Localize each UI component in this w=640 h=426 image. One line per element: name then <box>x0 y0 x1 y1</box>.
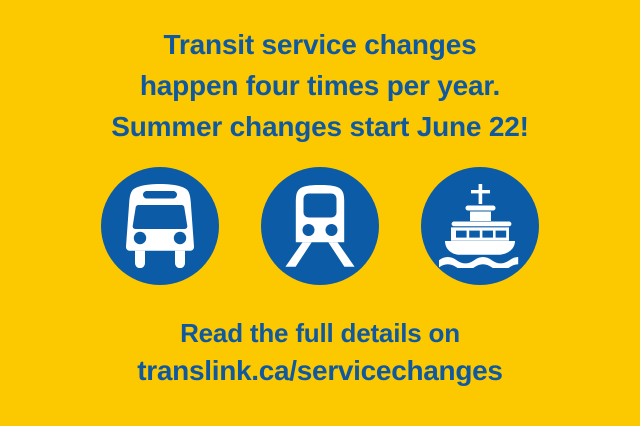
footer-cta-text: Read the full details on <box>0 315 640 352</box>
train-icon-circle <box>261 167 379 285</box>
headline-line-1: Transit service changes <box>0 24 640 65</box>
ferry-icon <box>437 184 523 268</box>
train-icon <box>282 185 358 267</box>
headline-line-3-prefix: Summer changes start <box>111 111 416 142</box>
headline-line-2: happen four times per year. <box>0 65 640 106</box>
headline-date-emphasis: June 22! <box>417 111 529 142</box>
transit-service-changes-poster: Transit service changes happen four time… <box>0 0 640 426</box>
transit-mode-icon-row <box>0 167 640 285</box>
headline-line-3: Summer changes start June 22! <box>0 106 640 147</box>
bus-icon <box>123 184 197 268</box>
headline: Transit service changes happen four time… <box>0 24 640 147</box>
bus-icon-circle <box>101 167 219 285</box>
footer: Read the full details on translink.ca/se… <box>0 315 640 390</box>
footer-url-link[interactable]: translink.ca/servicechanges <box>0 352 640 390</box>
ferry-icon-circle <box>421 167 539 285</box>
